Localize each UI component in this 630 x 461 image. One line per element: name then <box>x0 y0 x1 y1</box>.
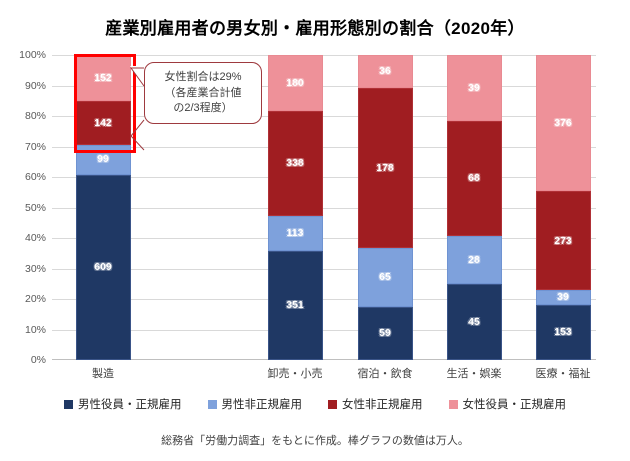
x-axis-tick: 医療・福祉 <box>508 365 618 381</box>
y-axis: 0% 10% 20% 30% 40% 50% 60% 70% 80% 90% 1… <box>0 55 46 360</box>
x-axis-tick: 製造 <box>48 365 158 381</box>
legend-label: 男性役員・正規雇用 <box>78 396 182 412</box>
y-axis-tick: 50% <box>2 202 46 214</box>
bar-segment[interactable]: 68 <box>447 121 502 236</box>
callout-tail-icon <box>126 60 158 152</box>
chart-footnote: 総務省「労働力調査」をもとに作成。棒グラフの数値は万人。 <box>0 432 630 448</box>
callout-line: の2/3程度） <box>154 101 252 117</box>
y-axis-tick: 90% <box>2 80 46 92</box>
female-share-callout: 女性割合は29% （各産業合計値 の2/3程度） <box>144 62 262 124</box>
bar-segment-value: 142 <box>94 118 112 129</box>
bar-segment[interactable]: 142 <box>76 101 131 144</box>
bar-segment[interactable]: 153 <box>536 305 591 360</box>
y-axis-tick: 20% <box>2 293 46 305</box>
y-axis-tick: 80% <box>2 110 46 122</box>
bar-segment[interactable]: 59 <box>358 307 413 360</box>
bar-segment-value: 609 <box>94 262 112 273</box>
y-axis-tick: 70% <box>2 141 46 153</box>
callout-line: 女性割合は29% <box>154 70 252 86</box>
bar-segment-value: 59 <box>379 328 391 339</box>
callout-line: （各産業合計値 <box>154 86 252 102</box>
bar-segment-value: 45 <box>468 317 480 328</box>
chart-container: 産業別雇用者の男女別・雇用形態別の割合（2020年） 0% 10% 20% 30… <box>0 0 630 461</box>
bar-segment-value: 178 <box>376 163 394 174</box>
gridline <box>52 238 596 239</box>
y-axis-tick: 100% <box>2 49 46 61</box>
gridline <box>52 299 596 300</box>
bar-segment-value: 351 <box>286 300 304 311</box>
bar-segment[interactable]: 65 <box>358 248 413 307</box>
bar-segment[interactable]: 113 <box>268 216 323 251</box>
bar-segment[interactable]: 273 <box>536 191 591 290</box>
legend-item[interactable]: 男性非正規雇用 <box>208 396 303 412</box>
gridline <box>52 55 596 56</box>
y-axis-tick: 60% <box>2 171 46 183</box>
legend: 男性役員・正規雇用男性非正規雇用女性非正規雇用女性役員・正規雇用 <box>0 396 630 412</box>
gridline <box>52 330 596 331</box>
y-axis-tick: 30% <box>2 263 46 275</box>
bar-segment[interactable]: 39 <box>536 290 591 304</box>
legend-label: 男性非正規雇用 <box>222 396 303 412</box>
legend-swatch-icon <box>64 400 73 409</box>
legend-swatch-icon <box>449 400 458 409</box>
bar-segment-value: 39 <box>557 292 569 303</box>
bar-segment-value: 153 <box>554 327 572 338</box>
legend-item[interactable]: 男性役員・正規雇用 <box>64 396 182 412</box>
bar-segment-value: 28 <box>468 255 480 266</box>
bar-segment-value: 180 <box>286 78 304 89</box>
bar-segment-value: 99 <box>97 154 109 165</box>
bar-segment[interactable]: 152 <box>76 55 131 101</box>
y-axis-tick: 10% <box>2 324 46 336</box>
bar-segment-value: 273 <box>554 236 572 247</box>
bar-segment-value: 338 <box>286 158 304 169</box>
x-axis-line <box>52 359 596 360</box>
gridline <box>52 269 596 270</box>
y-axis-tick: 0% <box>2 354 46 366</box>
bar-segment-value: 376 <box>554 118 572 129</box>
bar-segment[interactable]: 36 <box>358 55 413 87</box>
bar-segment-value: 68 <box>468 173 480 184</box>
bar-segment-value: 152 <box>94 73 112 84</box>
bar-segment[interactable]: 28 <box>447 236 502 283</box>
bar-segment[interactable]: 376 <box>536 55 591 191</box>
bar-segment[interactable]: 351 <box>268 251 323 360</box>
y-axis-tick: 40% <box>2 232 46 244</box>
bar-segment[interactable]: 338 <box>268 111 323 216</box>
bar-segment-value: 36 <box>379 66 391 77</box>
legend-swatch-icon <box>328 400 337 409</box>
legend-label: 女性役員・正規雇用 <box>463 396 567 412</box>
chart-title: 産業別雇用者の男女別・雇用形態別の割合（2020年） <box>0 14 630 39</box>
bar-segment[interactable]: 609 <box>76 175 131 360</box>
gridline <box>52 208 596 209</box>
legend-item[interactable]: 女性非正規雇用 <box>328 396 423 412</box>
bar-segment-value: 65 <box>379 272 391 283</box>
bar-segment[interactable]: 39 <box>447 55 502 121</box>
bar-segment[interactable]: 45 <box>447 284 502 360</box>
bar-segment[interactable]: 178 <box>358 88 413 249</box>
gridline <box>52 177 596 178</box>
bar-segment-value: 113 <box>287 228 304 239</box>
bar-segment[interactable]: 180 <box>268 55 323 111</box>
legend-label: 女性非正規雇用 <box>342 396 423 412</box>
bar-segment[interactable]: 99 <box>76 145 131 175</box>
legend-swatch-icon <box>208 400 217 409</box>
legend-item[interactable]: 女性役員・正規雇用 <box>449 396 567 412</box>
bar-segment-value: 39 <box>468 83 480 94</box>
